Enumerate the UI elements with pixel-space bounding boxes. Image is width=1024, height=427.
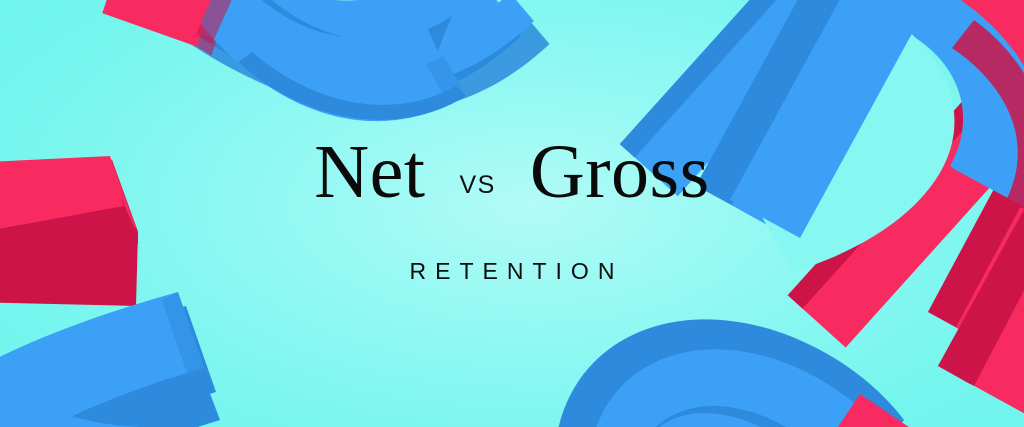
net-vs-gross-retention-banner: Net vs Gross RETENTION bbox=[0, 0, 1024, 427]
title-separator-vs: vs bbox=[460, 171, 496, 200]
title-word-net: Net bbox=[314, 134, 425, 210]
banner-title: Net vs Gross bbox=[314, 134, 709, 210]
banner-content: Net vs Gross RETENTION bbox=[0, 0, 1024, 427]
title-word-gross: Gross bbox=[530, 134, 710, 210]
banner-subtitle: RETENTION bbox=[401, 258, 624, 285]
